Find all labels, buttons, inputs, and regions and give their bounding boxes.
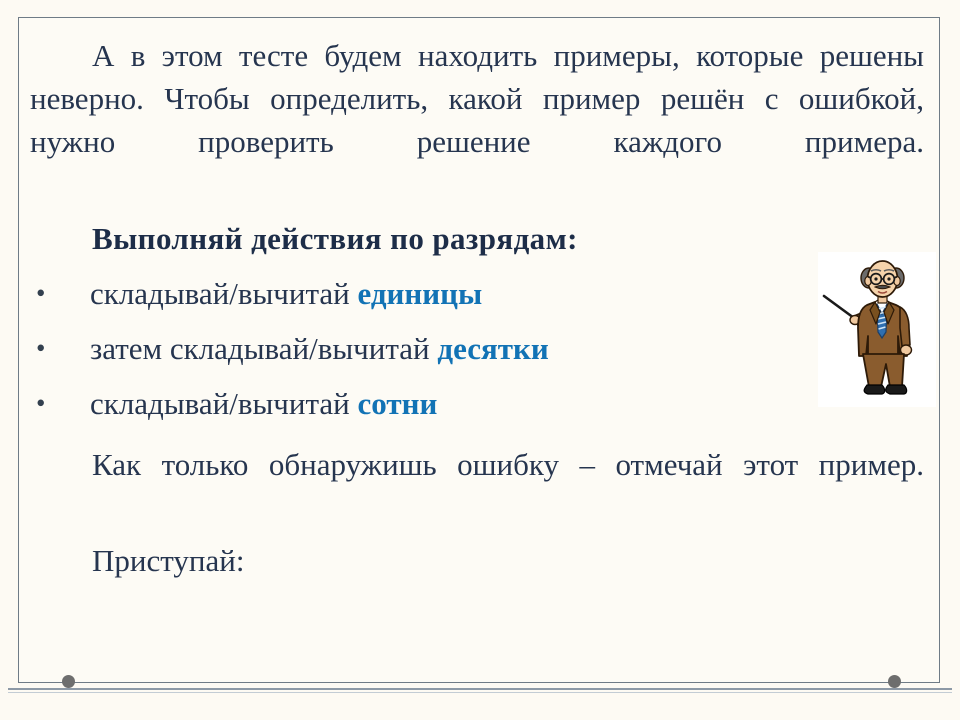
teacher-figure-icon (818, 252, 936, 407)
step-accent-word: десятки (437, 331, 548, 366)
step-accent-word: единицы (358, 276, 483, 311)
slide-content: А в этом тесте будем находить примеры, к… (22, 34, 936, 634)
steps-list: •складывай/вычитай единицы •затем склады… (22, 266, 936, 431)
start-paragraph-text: Приступай: (92, 543, 244, 578)
intro-paragraph: А в этом тесте будем находить примеры, к… (22, 34, 936, 206)
slide-canvas: А в этом тесте будем находить примеры, к… (0, 0, 960, 720)
step-text: складывай/вычитай (90, 276, 358, 311)
mark-paragraph-text: Как только обнаружишь ошибку – отмечай э… (92, 447, 924, 482)
start-paragraph: Приступай: (22, 539, 936, 582)
decorative-dot-left (62, 675, 75, 688)
step-text: затем складывай/вычитай (90, 331, 437, 366)
bottom-rule-primary (8, 688, 952, 690)
mark-paragraph: Как только обнаружишь ошибку – отмечай э… (22, 443, 936, 529)
bottom-rule-secondary (8, 692, 952, 693)
bullet-icon: • (36, 376, 45, 431)
list-item: •складывай/вычитай сотни (22, 376, 936, 431)
bullet-icon: • (36, 266, 45, 321)
list-item: •складывай/вычитай единицы (22, 266, 936, 321)
decorative-dot-right (888, 675, 901, 688)
step-text: складывай/вычитай (90, 386, 358, 421)
instructions-heading: Выполняй действия по разрядам: (22, 217, 936, 260)
bullet-icon: • (36, 321, 45, 376)
instructions-heading-text: Выполняй действия по разрядам: (92, 221, 578, 256)
step-accent-word: сотни (358, 386, 438, 421)
list-item: •затем складывай/вычитай десятки (22, 321, 936, 376)
teacher-illustration (818, 252, 936, 407)
intro-paragraph-text: А в этом тесте будем находить примеры, к… (30, 38, 924, 159)
